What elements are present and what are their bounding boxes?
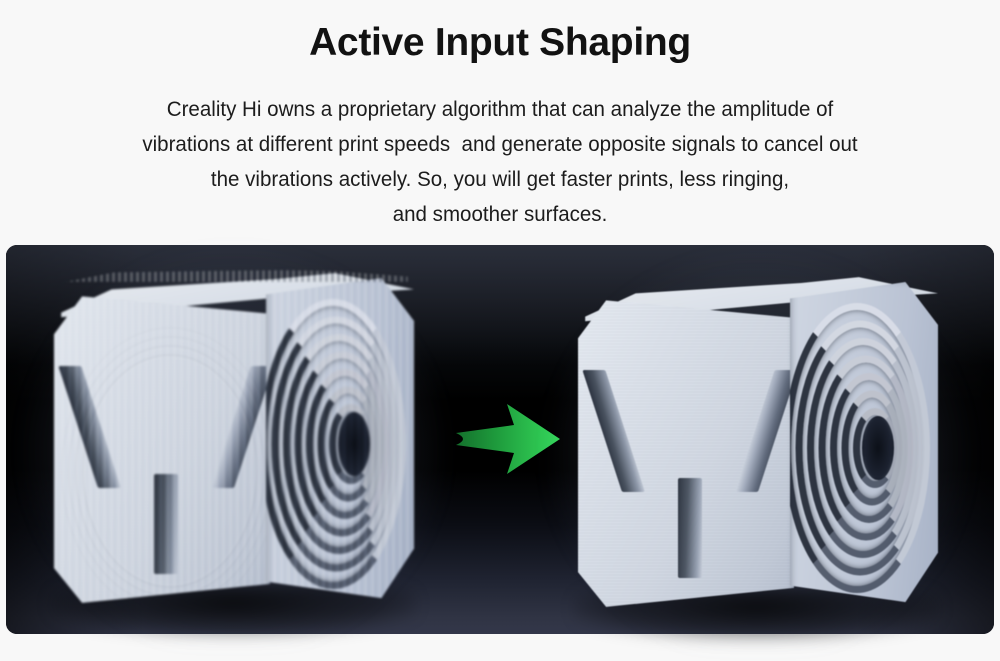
y-left-arm (58, 366, 121, 488)
description-block: Creality Hi owns a proprietary algorithm… (70, 92, 930, 232)
y-right-arm (211, 366, 274, 488)
before-cube-rough-top-edge (58, 270, 408, 282)
description-line-4: and smoother surfaces. (70, 197, 930, 232)
description-line-3: the vibrations actively. So, you will ge… (70, 162, 930, 197)
after-cube-concentric-rings (798, 304, 936, 592)
y-left-arm (582, 370, 645, 492)
before-cube-letter-y (92, 366, 240, 574)
after-cube-front-face (578, 294, 794, 610)
y-stem (154, 474, 178, 574)
after-cube-letter-y (616, 370, 764, 578)
after-cube-body (572, 266, 944, 624)
ring-core (862, 416, 894, 480)
before-cube-concentric-rings (274, 300, 412, 588)
before-cube-side-face (266, 278, 414, 608)
before-cube-front-face (54, 290, 270, 606)
y-right-arm (735, 370, 798, 492)
description-line-1: Creality Hi owns a proprietary algorithm… (70, 92, 930, 127)
y-stem (678, 478, 702, 578)
before-cube-body (48, 262, 420, 620)
before-cube (48, 262, 420, 620)
after-cube-side-face (790, 282, 938, 612)
ring-core (338, 412, 370, 476)
promo-page: Active Input Shaping Creality Hi owns a … (0, 0, 1000, 661)
description-line-2: vibrations at different print speeds and… (70, 127, 930, 162)
page-title: Active Input Shaping (0, 22, 1000, 64)
after-cube (572, 266, 944, 624)
